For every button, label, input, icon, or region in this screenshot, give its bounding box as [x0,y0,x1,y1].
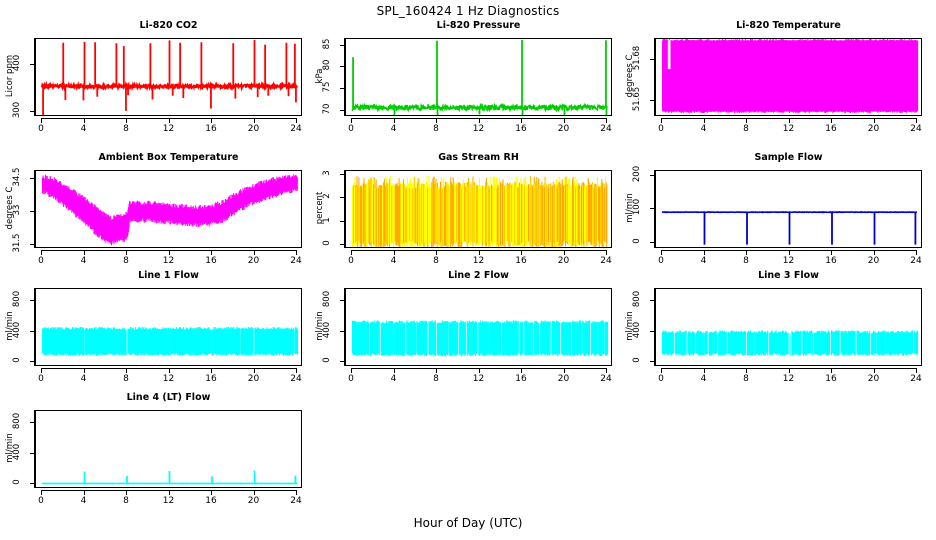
trace-line-4-lt-flow [36,411,302,488]
xtick-label-line-2-flow-3: 12 [467,374,491,384]
xtick-label-line-3-flow-1: 4 [692,374,716,384]
xtick-label-line-4-lt-flow-0: 0 [29,496,53,506]
xtick-label-line-2-flow-5: 20 [552,374,576,384]
xtick-mark [296,250,297,255]
xtick-label-ambient-box-temperature-5: 20 [242,256,266,266]
panel-title-li820-pressure: Li-820 Pressure [345,20,612,31]
x-axis-line [351,250,606,251]
plot-area-li820-co2 [35,38,302,116]
y-axis-line [654,38,655,116]
xtick-label-sample-flow-4: 16 [819,256,843,266]
xtick-label-li820-temperature-5: 20 [862,124,886,134]
xtick-label-line-2-flow-0: 0 [339,374,363,384]
panel-title-gas-stream-rh: Gas Stream RH [345,152,612,163]
y-axis-line [34,288,35,366]
diagnostics-figure: SPL_160424 1 Hz Diagnostics Hour of Day … [0,0,936,540]
xtick-label-ambient-box-temperature-4: 16 [199,256,223,266]
x-axis-line [41,250,296,251]
panel-li820-co2: Li-820 CO2300400Licor ppm04812162024 [0,20,302,146]
figure-title: SPL_160424 1 Hz Diagnostics [0,4,936,18]
xtick-label-li820-co2-1: 4 [72,124,96,134]
plot-area-ambient-box-temperature [35,170,302,248]
xtick-label-line-2-flow-2: 8 [424,374,448,384]
xtick-label-li820-temperature-4: 16 [819,124,843,134]
xtick-label-line-4-lt-flow-1: 4 [72,496,96,506]
ylabel-ambient-box-temperature: degrees C [5,169,15,247]
xtick-mark [916,118,917,123]
panel-sample-flow: Sample Flow0100200ml/min04812162024 [620,152,922,278]
x-axis-line [41,118,296,119]
xtick-mark [606,118,607,123]
xtick-label-li820-temperature-0: 0 [649,124,673,134]
trace-li820-temperature [656,39,922,116]
trace-line-1-flow [36,289,302,366]
plot-area-line-3-flow [655,288,922,366]
xtick-label-line-4-lt-flow-2: 8 [114,496,138,506]
x-axis-line [661,118,916,119]
xtick-label-line-1-flow-3: 12 [157,374,181,384]
xtick-mark [296,368,297,373]
ylabel-li820-temperature: degrees C [625,37,635,115]
xtick-label-ambient-box-temperature-3: 12 [157,256,181,266]
y-axis-line [344,38,345,116]
xtick-label-li820-pressure-6: 24 [594,124,618,134]
xtick-label-ambient-box-temperature-6: 24 [284,256,308,266]
y-axis-line [34,410,35,488]
x-axis-line [41,368,296,369]
y-axis-line [34,170,35,248]
ylabel-line-3-flow: ml/min [625,287,635,365]
xtick-label-sample-flow-0: 0 [649,256,673,266]
panel-line-1-flow: Line 1 Flow0400800ml/min04812162024 [0,270,302,396]
trace-sample-flow [656,171,922,248]
xtick-label-li820-co2-5: 20 [242,124,266,134]
xtick-label-ambient-box-temperature-0: 0 [29,256,53,266]
ylabel-li820-co2: Licor ppm [5,37,15,115]
ylabel-line-2-flow: ml/min [315,287,325,365]
xtick-label-li820-pressure-2: 8 [424,124,448,134]
xtick-label-line-1-flow-5: 20 [242,374,266,384]
figure-xlabel: Hour of Day (UTC) [0,516,936,530]
panel-title-li820-temperature: Li-820 Temperature [655,20,922,31]
panel-title-li820-co2: Li-820 CO2 [35,20,302,31]
xtick-mark [606,250,607,255]
panel-title-line-4-lt-flow: Line 4 (LT) Flow [35,392,302,403]
xtick-label-li820-temperature-6: 24 [904,124,928,134]
xtick-label-sample-flow-2: 8 [734,256,758,266]
xtick-label-li820-co2-0: 0 [29,124,53,134]
xtick-label-li820-pressure-5: 20 [552,124,576,134]
xtick-mark [916,250,917,255]
xtick-label-li820-pressure-0: 0 [339,124,363,134]
x-axis-line [661,250,916,251]
xtick-label-li820-pressure-4: 16 [509,124,533,134]
xtick-label-sample-flow-1: 4 [692,256,716,266]
xtick-label-line-1-flow-0: 0 [29,374,53,384]
xtick-label-gas-stream-rh-5: 20 [552,256,576,266]
xtick-mark [606,368,607,373]
x-axis-line [351,118,606,119]
y-axis-line [654,288,655,366]
xtick-label-ambient-box-temperature-1: 4 [72,256,96,266]
panel-line-3-flow: Line 3 Flow0400800ml/min04812162024 [620,270,922,396]
xtick-label-line-3-flow-4: 16 [819,374,843,384]
xtick-mark [916,368,917,373]
x-axis-line [41,490,296,491]
ylabel-line-4-lt-flow: ml/min [5,409,15,487]
x-axis-line [351,368,606,369]
trace-li820-pressure [346,39,612,116]
xtick-label-line-2-flow-6: 24 [594,374,618,384]
xtick-label-line-2-flow-4: 16 [509,374,533,384]
xtick-label-line-3-flow-5: 20 [862,374,886,384]
xtick-mark [296,118,297,123]
xtick-label-line-4-lt-flow-4: 16 [199,496,223,506]
panel-title-line-2-flow: Line 2 Flow [345,270,612,281]
xtick-label-line-1-flow-2: 8 [114,374,138,384]
trace-ambient-box-temperature [36,171,302,248]
trace-line-3-flow [656,289,922,366]
xtick-label-line-1-flow-4: 16 [199,374,223,384]
xtick-label-line-3-flow-2: 8 [734,374,758,384]
xtick-label-li820-co2-6: 24 [284,124,308,134]
xtick-label-li820-pressure-1: 4 [382,124,406,134]
xtick-label-gas-stream-rh-6: 24 [594,256,618,266]
panel-ambient-box-temperature: Ambient Box Temperature31.53334.5degrees… [0,152,302,278]
y-axis-line [34,38,35,116]
xtick-label-gas-stream-rh-3: 12 [467,256,491,266]
y-axis-line [344,288,345,366]
xtick-label-line-1-flow-6: 24 [284,374,308,384]
ylabel-line-1-flow: ml/min [5,287,15,365]
xtick-label-gas-stream-rh-0: 0 [339,256,363,266]
xtick-label-gas-stream-rh-2: 8 [424,256,448,266]
panel-line-4-lt-flow: Line 4 (LT) Flow0400800ml/min04812162024 [0,392,302,518]
ylabel-sample-flow: ml/min [625,169,635,247]
panel-title-ambient-box-temperature: Ambient Box Temperature [35,152,302,163]
ylabel-gas-stream-rh: percent [315,169,325,247]
xtick-label-line-4-lt-flow-6: 24 [284,496,308,506]
xtick-label-line-1-flow-1: 4 [72,374,96,384]
xtick-label-sample-flow-5: 20 [862,256,886,266]
xtick-label-line-3-flow-3: 12 [777,374,801,384]
xtick-label-line-2-flow-1: 4 [382,374,406,384]
xtick-label-line-3-flow-0: 0 [649,374,673,384]
trace-line-2-flow [346,289,612,366]
xtick-label-li820-co2-2: 8 [114,124,138,134]
panel-li820-temperature: Li-820 Temperature51.6551.68degrees C048… [620,20,922,146]
y-axis-line [654,170,655,248]
plot-area-line-1-flow [35,288,302,366]
xtick-label-line-4-lt-flow-3: 12 [157,496,181,506]
panel-title-sample-flow: Sample Flow [655,152,922,163]
trace-gas-stream-rh [346,171,612,248]
xtick-label-gas-stream-rh-1: 4 [382,256,406,266]
y-axis-line [344,170,345,248]
xtick-label-line-4-lt-flow-5: 20 [242,496,266,506]
xtick-label-li820-temperature-3: 12 [777,124,801,134]
panel-title-line-1-flow: Line 1 Flow [35,270,302,281]
xtick-label-sample-flow-3: 12 [777,256,801,266]
plot-area-gas-stream-rh [345,170,612,248]
trace-li820-co2 [36,39,302,116]
xtick-label-li820-co2-4: 16 [199,124,223,134]
xtick-mark [296,490,297,495]
x-axis-line [661,368,916,369]
panel-title-line-3-flow: Line 3 Flow [655,270,922,281]
xtick-label-li820-temperature-1: 4 [692,124,716,134]
xtick-label-li820-co2-3: 12 [157,124,181,134]
plot-area-sample-flow [655,170,922,248]
xtick-label-line-3-flow-6: 24 [904,374,928,384]
xtick-label-li820-temperature-2: 8 [734,124,758,134]
panel-li820-pressure: Li-820 Pressure70758085kPa04812162024 [310,20,612,146]
xtick-label-sample-flow-6: 24 [904,256,928,266]
ylabel-li820-pressure: kPa [315,37,325,115]
xtick-label-gas-stream-rh-4: 16 [509,256,533,266]
panel-line-2-flow: Line 2 Flow0400800ml/min04812162024 [310,270,612,396]
xtick-label-li820-pressure-3: 12 [467,124,491,134]
panel-gas-stream-rh: Gas Stream RH0123percent04812162024 [310,152,612,278]
plot-area-li820-temperature [655,38,922,116]
plot-area-line-4-lt-flow [35,410,302,488]
plot-area-li820-pressure [345,38,612,116]
xtick-label-ambient-box-temperature-2: 8 [114,256,138,266]
plot-area-line-2-flow [345,288,612,366]
